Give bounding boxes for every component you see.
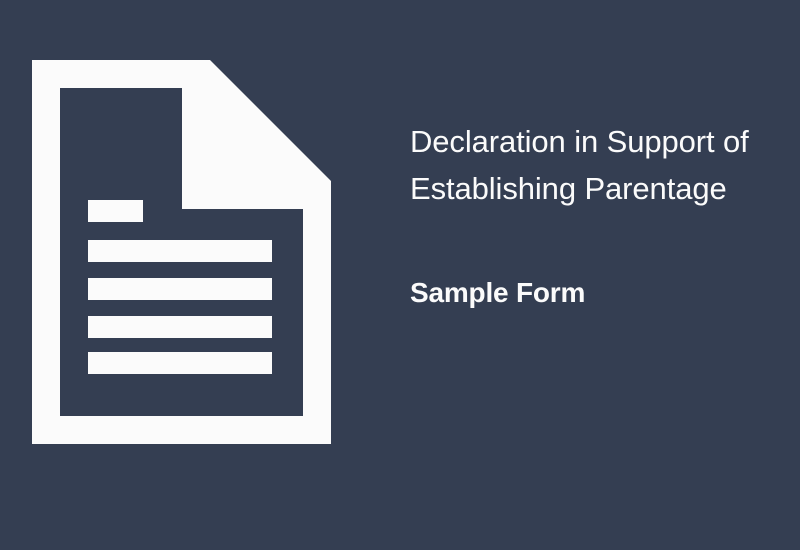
document-text-line-3 xyxy=(88,316,272,338)
page-subtitle: Sample Form xyxy=(410,276,780,310)
text-block: Declaration in Support of Establishing P… xyxy=(410,118,780,310)
page-title-line-1: Declaration in Support of xyxy=(410,118,780,165)
slide-canvas: Declaration in Support of Establishing P… xyxy=(0,0,800,550)
document-icon xyxy=(32,60,331,444)
document-text-line-4 xyxy=(88,352,272,374)
document-text-line-1 xyxy=(88,240,272,262)
page-title-line-2: Establishing Parentage xyxy=(410,165,780,212)
document-fold-corner xyxy=(210,88,303,181)
document-text-line-2 xyxy=(88,278,272,300)
document-text-line-short xyxy=(88,200,143,222)
